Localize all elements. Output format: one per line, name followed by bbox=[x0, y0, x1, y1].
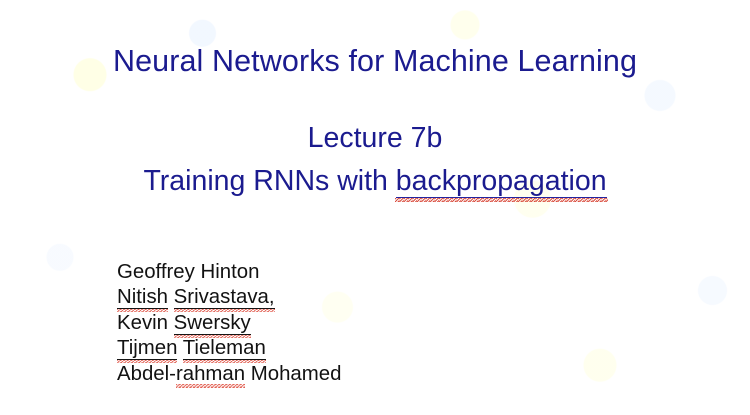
author-text bbox=[177, 337, 182, 359]
course-title: Neural Networks for Machine Learning bbox=[0, 43, 750, 79]
author-text: Abdel- bbox=[117, 363, 176, 385]
misspelled-word: rahman bbox=[176, 363, 245, 385]
author-line: Nitish Srivastava, bbox=[117, 285, 341, 310]
author-text bbox=[168, 286, 174, 308]
author-text: Geoffrey Hinton bbox=[117, 261, 259, 283]
author-line: Tijmen Tieleman bbox=[117, 336, 341, 361]
slide-canvas: Neural Networks for Machine Learning Lec… bbox=[0, 0, 750, 415]
misspelled-word: Tijmen bbox=[117, 337, 177, 360]
author-text: Kevin bbox=[117, 312, 174, 334]
lecture-topic-prefix: Training RNNs with bbox=[143, 165, 395, 197]
lecture-topic: Training RNNs with backpropagation bbox=[0, 164, 750, 198]
author-list: Geoffrey HintonNitish Srivastava,Kevin S… bbox=[117, 260, 341, 387]
misspelled-word: Nitish bbox=[117, 286, 168, 309]
lecture-number: Lecture 7b bbox=[0, 121, 750, 155]
misspelled-word: Tieleman bbox=[183, 337, 266, 360]
author-line: Geoffrey Hinton bbox=[117, 260, 341, 285]
author-line: Kevin Swersky bbox=[117, 311, 341, 336]
misspelled-word: Srivastava, bbox=[174, 286, 275, 309]
author-line: Abdel-rahman Mohamed bbox=[117, 362, 341, 387]
lecture-topic-flagged-word: backpropagation bbox=[396, 165, 607, 198]
misspelled-word: Swersky bbox=[174, 312, 251, 335]
author-text: Mohamed bbox=[245, 363, 341, 385]
